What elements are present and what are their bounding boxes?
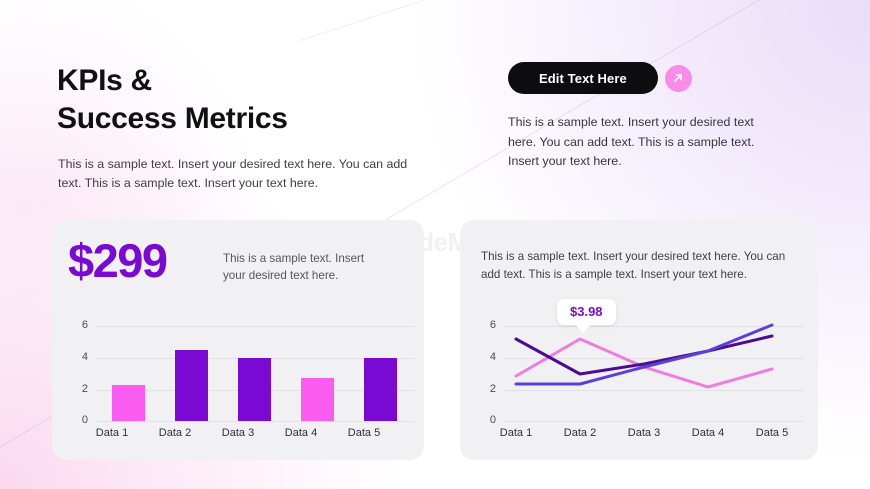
cta-group: Edit Text Here bbox=[508, 62, 692, 94]
bar-data-1[interactable] bbox=[112, 385, 145, 421]
slide-canvas: SlideModel .com KPIs & Success Metrics T… bbox=[0, 0, 870, 489]
y-tick-6: 6 bbox=[74, 319, 88, 331]
bar-data-2[interactable] bbox=[175, 350, 208, 421]
x-tick-data-2: Data 2 bbox=[145, 427, 205, 439]
x-tick-data-4: Data 4 bbox=[678, 427, 738, 439]
intro-paragraph: This is a sample text. Insert your desir… bbox=[58, 155, 423, 193]
decorative-diagonal-line-secondary bbox=[300, 0, 709, 41]
x-tick-data-3: Data 3 bbox=[208, 427, 268, 439]
x-tick-data-1: Data 1 bbox=[82, 427, 142, 439]
value-tooltip[interactable]: $3.98 bbox=[557, 299, 616, 325]
bar-data-3[interactable] bbox=[238, 358, 271, 421]
x-tick-data-5: Data 5 bbox=[334, 427, 394, 439]
bar-data-4[interactable] bbox=[301, 378, 334, 421]
line-chart: 6 4 2 0 $3.98 Data 1 Data 2 Data 3 Data … bbox=[460, 220, 818, 460]
edit-text-here-button[interactable]: Edit Text Here bbox=[508, 62, 658, 94]
x-tick-data-3: Data 3 bbox=[614, 427, 674, 439]
x-tick-data-2: Data 2 bbox=[550, 427, 610, 439]
page-title: KPIs & Success Metrics bbox=[57, 62, 288, 137]
x-tick-data-1: Data 1 bbox=[486, 427, 546, 439]
bar-data-5[interactable] bbox=[364, 358, 397, 421]
gridline-0 bbox=[96, 421, 414, 422]
bar-chart: 6 4 2 0 Data 1 Data 2 Data 3 Data 4 Data… bbox=[52, 220, 424, 460]
cta-description: This is a sample text. Insert your desir… bbox=[508, 113, 776, 172]
x-tick-data-5: Data 5 bbox=[742, 427, 802, 439]
line-plot-area bbox=[460, 220, 818, 460]
y-tick-2: 2 bbox=[74, 383, 88, 395]
kpi-card-bar: $299 This is a sample text. Insert your … bbox=[52, 220, 424, 460]
arrow-up-right-icon[interactable] bbox=[665, 65, 692, 92]
y-tick-4: 4 bbox=[74, 351, 88, 363]
y-tick-0: 0 bbox=[74, 414, 88, 426]
kpi-card-line: This is a sample text. Insert your desir… bbox=[460, 220, 818, 460]
bar-plot-area bbox=[96, 220, 414, 421]
x-tick-data-4: Data 4 bbox=[271, 427, 331, 439]
